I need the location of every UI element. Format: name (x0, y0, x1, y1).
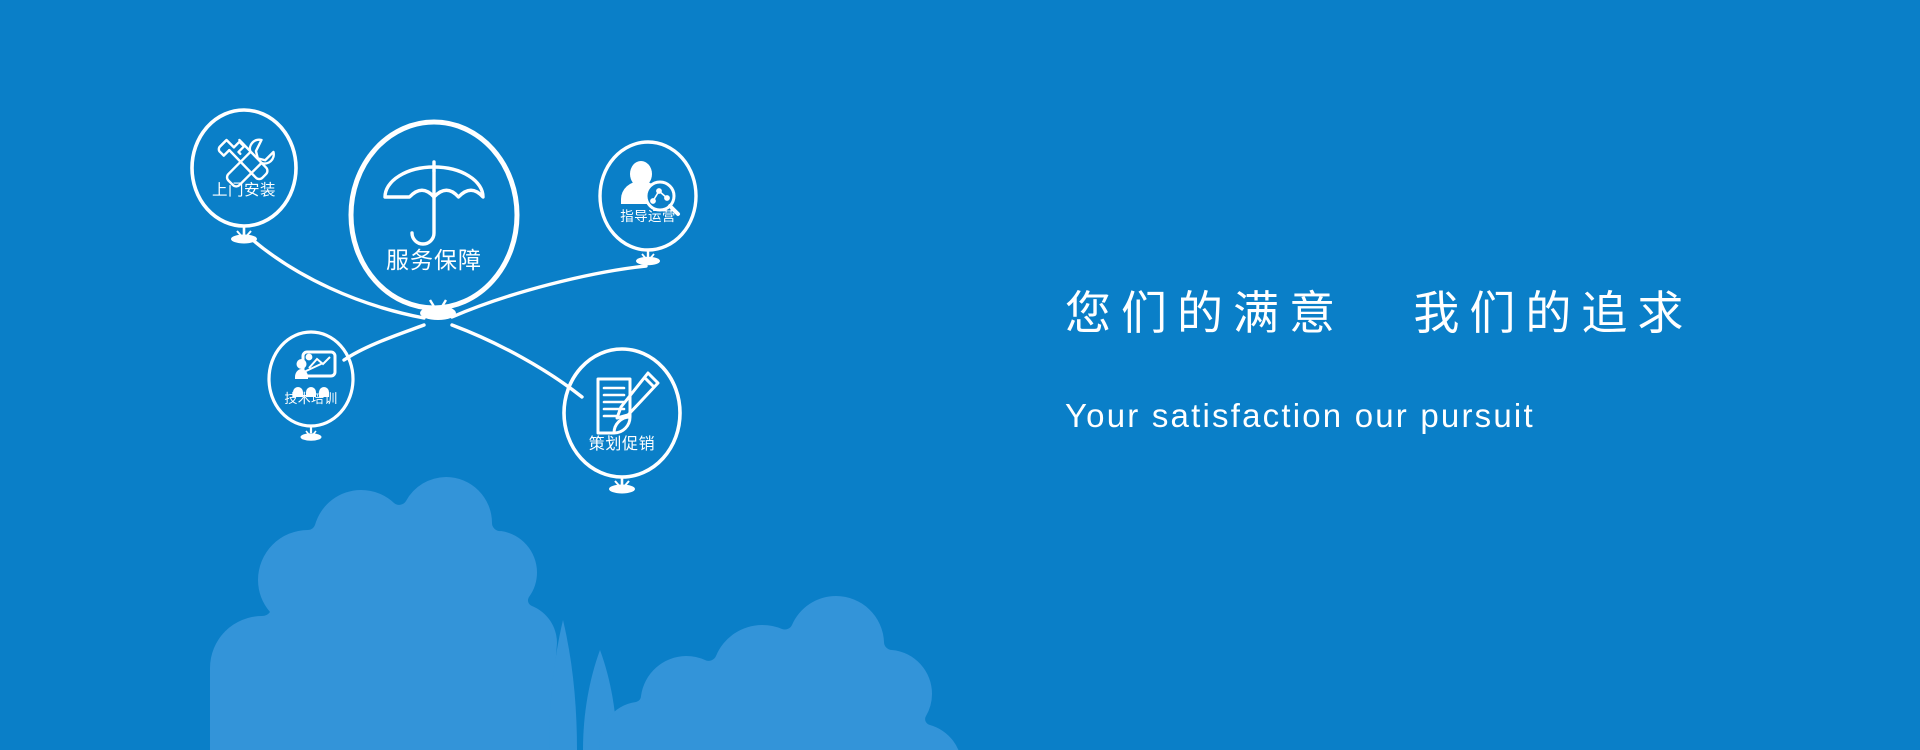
node-promotion-planning[interactable]: 策划促销 (564, 349, 680, 494)
node-tech-training-ring (269, 332, 353, 426)
node-tech-training[interactable]: 技术培训 (269, 332, 353, 441)
node-service-guarantee[interactable]: 服务保障 (351, 122, 517, 316)
node-promotion-planning-label: 策划促销 (589, 435, 655, 453)
connector-promotion (452, 325, 582, 397)
hero-subheadline: Your satisfaction our pursuit (1065, 343, 1825, 438)
hero-headline: 您们的满意 我们的追求 (1065, 285, 1825, 343)
node-install-label: 上门安装 (212, 181, 276, 199)
connector-training (344, 325, 424, 360)
node-promotion-planning-ring (564, 349, 680, 477)
node-operation-guidance-pin (636, 250, 660, 265)
node-install-pin (231, 226, 257, 244)
cloud-decoration (210, 477, 962, 750)
node-operation-guidance[interactable]: 指导运营 (600, 142, 696, 265)
hero-text-block: 您们的满意 我们的追求 Your satisfaction our pursui… (1065, 285, 1825, 437)
node-operation-guidance-label: 指导运营 (620, 209, 676, 224)
hammer-wrench-icon (219, 140, 274, 187)
user-analytics-icon (621, 161, 678, 214)
node-service-guarantee-label: 服务保障 (386, 247, 482, 273)
node-install-ring (192, 110, 296, 226)
document-pencil-icon (598, 373, 658, 433)
node-tech-training-label: 技术培训 (284, 391, 337, 406)
hero-banner: 上门安装 服务保障 (0, 0, 1920, 750)
node-install[interactable]: 上门安装 (192, 110, 296, 244)
node-tech-training-pin (301, 426, 322, 441)
umbrella-icon (385, 162, 483, 244)
node-promotion-planning-pin (609, 477, 635, 494)
